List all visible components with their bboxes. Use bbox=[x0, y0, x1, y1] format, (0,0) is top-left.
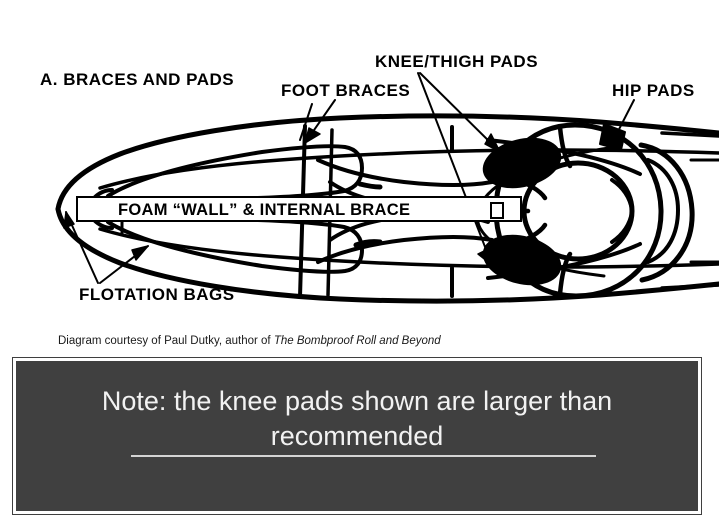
caption-prefix: Diagram courtesy of Paul Dutky, author o… bbox=[58, 335, 274, 347]
hip-pad-block-upper bbox=[600, 124, 625, 150]
internal-brace-pillar bbox=[490, 202, 504, 219]
foam-wall-box: FOAM “WALL” & INTERNAL BRACE bbox=[76, 196, 522, 222]
kayak-diagram-graphic bbox=[0, 0, 719, 326]
arrowhead-flotation-lower bbox=[132, 246, 148, 260]
diagram-title-label: A. BRACES AND PADS bbox=[40, 71, 234, 88]
leg-line-upper-1 bbox=[318, 160, 492, 185]
leg-line-lower-1 bbox=[318, 237, 492, 262]
note-callout-inner: Note: the knee pads shown are larger tha… bbox=[16, 361, 698, 511]
caption-book-title: The Bombproof Roll and Beyond bbox=[274, 335, 441, 347]
note-divider-rule bbox=[131, 455, 596, 457]
slide-canvas: A. BRACES AND PADS FOOT BRACES KNEE/THIG… bbox=[0, 0, 719, 526]
flotation-bag-bow-lower bbox=[108, 219, 362, 272]
foam-wall-label: FOAM “WALL” & INTERNAL BRACE bbox=[118, 201, 410, 219]
coaming-strut-4 bbox=[560, 127, 570, 166]
diagram-caption: Diagram courtesy of Paul Dutky, author o… bbox=[58, 334, 441, 348]
hull-tick-upper bbox=[360, 184, 380, 187]
kayak-diagram: A. BRACES AND PADS FOOT BRACES KNEE/THIG… bbox=[0, 0, 719, 326]
label-knee-thigh-pads: KNEE/THIGH PADS bbox=[375, 53, 538, 70]
label-flotation-bags: FLOTATION BAGS bbox=[79, 286, 235, 303]
arrowhead-foot-braces bbox=[305, 128, 320, 143]
note-text: Note: the knee pads shown are larger tha… bbox=[16, 384, 698, 454]
note-callout-box: Note: the knee pads shown are larger tha… bbox=[12, 357, 702, 515]
flotation-bag-bow-upper bbox=[108, 146, 362, 199]
label-foot-braces: FOOT BRACES bbox=[281, 82, 410, 99]
label-hip-pads: HIP PADS bbox=[612, 82, 695, 99]
coaming-strut-5 bbox=[560, 254, 570, 294]
stern-deck-line-bottom bbox=[662, 285, 719, 288]
